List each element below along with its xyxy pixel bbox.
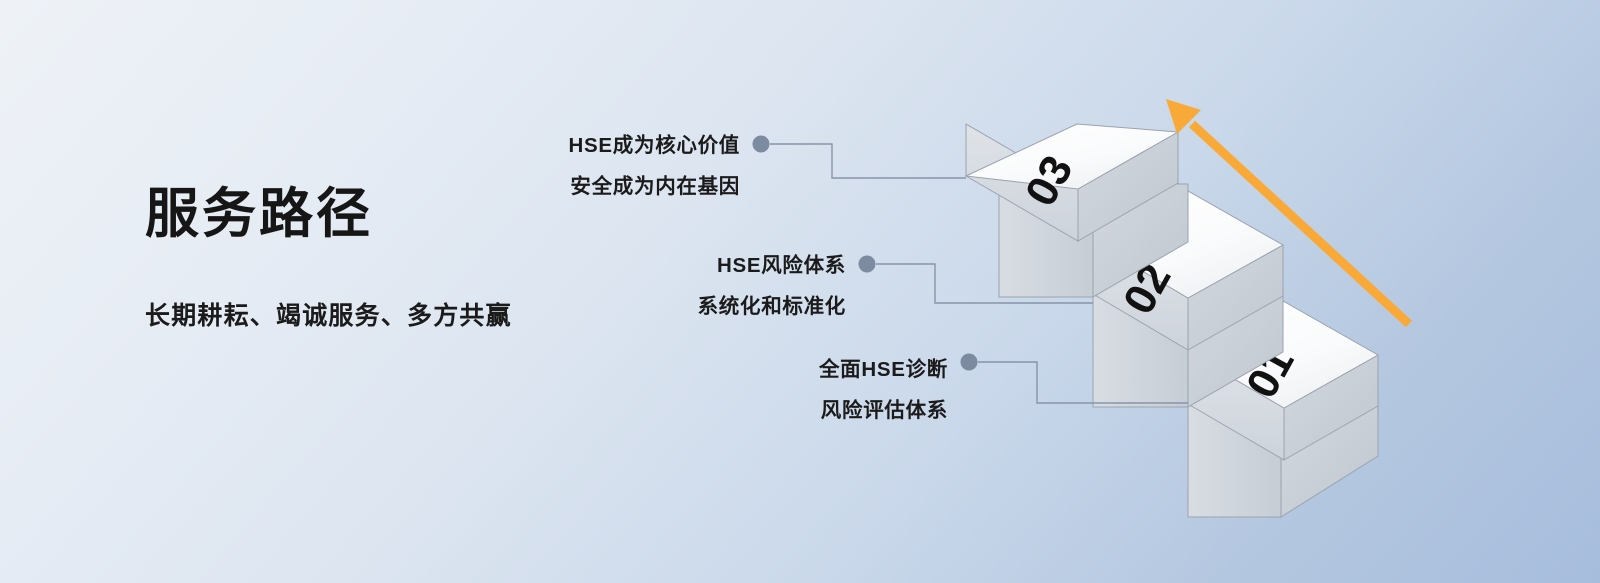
callout-step-01-line1: 全面HSE诊断 bbox=[819, 358, 948, 381]
callout-step-01-line2: 风险评估体系 bbox=[570, 390, 948, 431]
callout-step-02: HSE风险体系 系统化和标准化 bbox=[470, 245, 846, 327]
callout-step-02-line1: HSE风险体系 bbox=[717, 254, 846, 277]
connector-step-03 bbox=[770, 144, 966, 178]
callout-step-03-line2: 安全成为内在基因 bbox=[360, 166, 740, 207]
callout-step-03-line1: HSE成为核心价值 bbox=[569, 134, 740, 157]
callout-step-01: 全面HSE诊断 风险评估体系 bbox=[570, 349, 948, 431]
connector-dot-step-03 bbox=[753, 136, 770, 153]
connector-dot-step-01 bbox=[961, 354, 978, 371]
connector-dot-step-02 bbox=[859, 256, 876, 273]
callout-step-03: HSE成为核心价值 安全成为内在基因 bbox=[360, 125, 740, 207]
service-path-banner: 服务路径 长期耕耘、竭诚服务、多方共赢 bbox=[0, 0, 1600, 583]
callout-step-02-line2: 系统化和标准化 bbox=[470, 286, 846, 327]
